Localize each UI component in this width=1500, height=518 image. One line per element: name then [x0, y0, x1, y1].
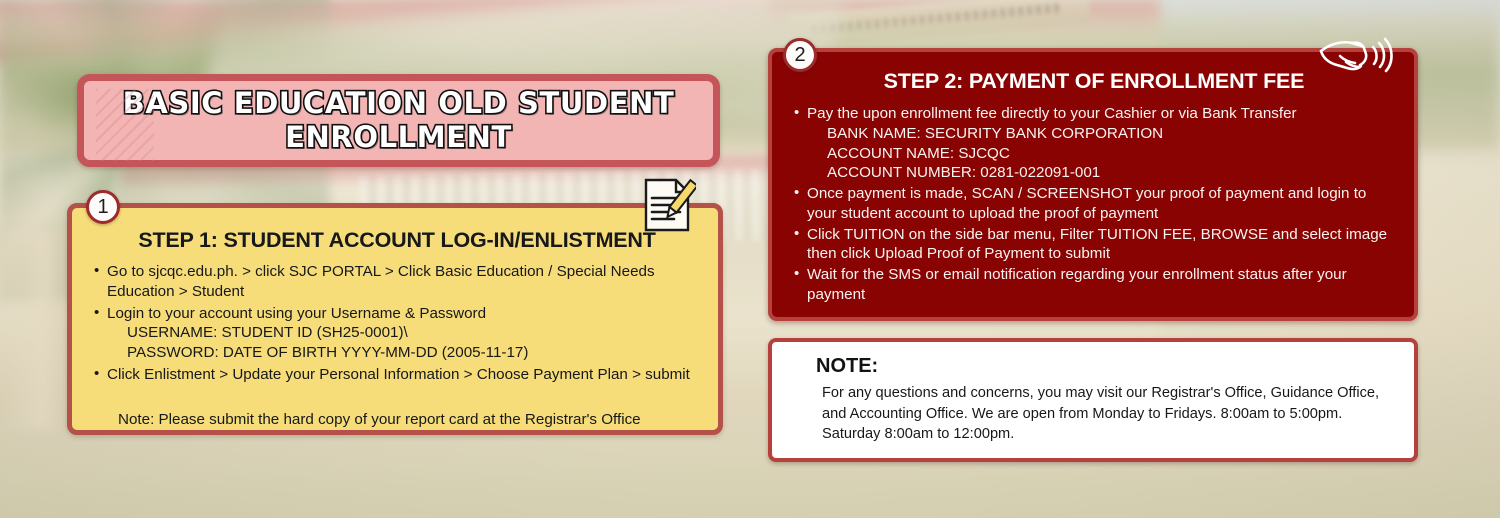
step-1-bullet-list: Go to sjcqc.edu.ph. > click SJC PORTAL >…: [94, 262, 700, 385]
bullet-subline-account-name: ACCOUNT NAME: SJCQC: [807, 144, 1394, 164]
page-title: BASIC EDUCATION OLD STUDENT ENROLLMENT: [123, 87, 675, 154]
step-2-panel: STEP 2: PAYMENT OF ENROLLMENT FEE Pay th…: [768, 48, 1418, 321]
enrollment-poster: BASIC EDUCATION OLD STUDENT ENROLLMENT 1…: [0, 0, 1500, 518]
step-2-bullet-list: Pay the upon enrollment fee directly to …: [794, 104, 1394, 305]
bullet-subline-bank-name: BANK NAME: SECURITY BANK CORPORATION: [807, 124, 1394, 144]
step-2-number: 2: [794, 44, 805, 67]
bullet-subline-username: USERNAME: STUDENT ID (SH25-0001)\: [107, 323, 700, 343]
contactless-payment-hand-icon: [1318, 36, 1394, 78]
list-item: Pay the upon enrollment fee directly to …: [794, 104, 1394, 183]
bullet-text: Click TUITION on the side bar menu, Filt…: [807, 226, 1387, 263]
list-item: Wait for the SMS or email notification r…: [794, 265, 1394, 305]
bullet-text: Click Enlistment > Update your Personal …: [107, 366, 690, 383]
step-1-panel: STEP 1: STUDENT ACCOUNT LOG-IN/ENLISTMEN…: [67, 203, 723, 435]
bullet-subline-account-number: ACCOUNT NUMBER: 0281-022091-001: [807, 163, 1394, 183]
note-title: NOTE:: [816, 355, 1394, 378]
list-item: Login to your account using your Usernam…: [94, 304, 700, 363]
step-2-number-badge: 2: [783, 38, 817, 72]
note-line-1: For any questions and concerns, you may …: [822, 383, 1394, 404]
page-title-line-2: ENROLLMENT: [123, 121, 675, 155]
note-body: For any questions and concerns, you may …: [816, 383, 1394, 445]
bullet-text: Wait for the SMS or email notification r…: [807, 266, 1347, 303]
bullet-text: Pay the upon enrollment fee directly to …: [807, 105, 1297, 122]
step-2-heading: STEP 2: PAYMENT OF ENROLLMENT FEE: [794, 69, 1394, 94]
list-item: Once payment is made, SCAN / SCREENSHOT …: [794, 184, 1394, 224]
step-1-footnote: Note: Please submit the hard copy of you…: [94, 411, 700, 428]
note-panel: NOTE: For any questions and concerns, yo…: [768, 338, 1418, 462]
list-item: Click TUITION on the side bar menu, Filt…: [794, 225, 1394, 265]
bullet-text: Go to sjcqc.edu.ph. > click SJC PORTAL >…: [107, 263, 655, 300]
step-1-number-badge: 1: [86, 190, 120, 224]
step-1-number: 1: [97, 196, 108, 219]
bullet-text: Login to your account using your Usernam…: [107, 305, 486, 322]
bullet-text: Once payment is made, SCAN / SCREENSHOT …: [807, 185, 1366, 222]
bullet-subline-password: PASSWORD: DATE OF BIRTH YYYY-MM-DD (2005…: [107, 343, 700, 363]
list-item: Go to sjcqc.edu.ph. > click SJC PORTAL >…: [94, 262, 700, 302]
note-line-2: and Accounting Office. We are open from …: [822, 404, 1394, 425]
note-line-3: Saturday 8:00am to 12:00pm.: [822, 424, 1394, 445]
list-item: Click Enlistment > Update your Personal …: [94, 365, 700, 385]
poster-title-banner: BASIC EDUCATION OLD STUDENT ENROLLMENT: [77, 74, 720, 167]
step-1-heading: STEP 1: STUDENT ACCOUNT LOG-IN/ENLISTMEN…: [94, 228, 700, 253]
document-pencil-icon: [640, 176, 696, 234]
page-title-line-1: BASIC EDUCATION OLD STUDENT: [123, 87, 675, 121]
